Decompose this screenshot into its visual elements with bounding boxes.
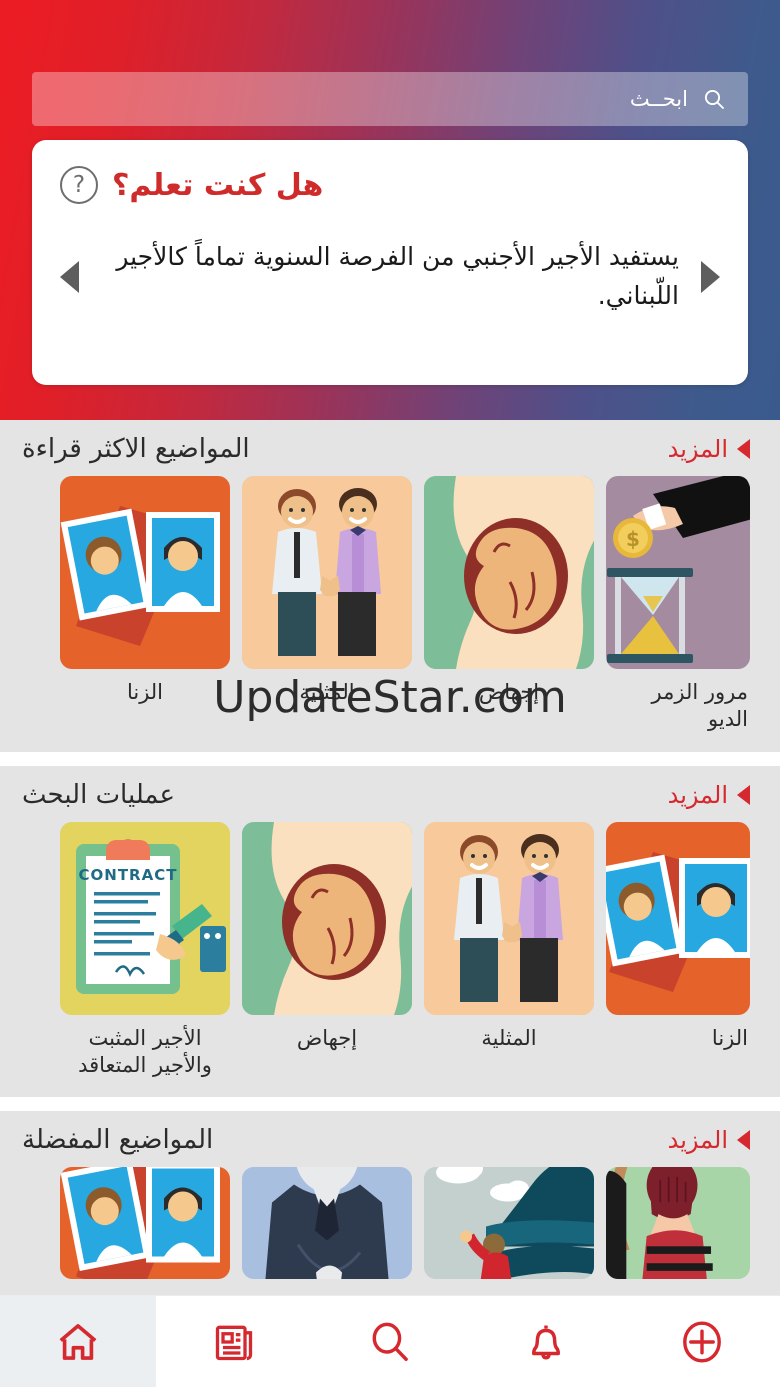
section-most-read: المزيد المواضيع الاكثر قراءة $ (0, 420, 780, 752)
plus-circle-icon (678, 1318, 726, 1366)
more-link-search-operations[interactable]: المزيد (668, 781, 750, 809)
topic-card[interactable] (242, 1167, 412, 1289)
triangle-left-icon (737, 1130, 750, 1150)
topic-thumbnail (242, 476, 412, 669)
topic-label: الأجير المثبت والأجير المتعاقد (60, 1025, 230, 1080)
search-input[interactable]: ابحــث (32, 72, 748, 126)
nav-item-search[interactable] (312, 1296, 468, 1387)
did-you-know-card: ? هل كنت تعلم؟ يستفيد الأجير الأجنبي من … (32, 140, 748, 385)
home-icon (55, 1319, 101, 1365)
more-label: المزيد (668, 435, 728, 463)
topic-thumbnail (60, 476, 230, 669)
topic-label: الزنا (606, 1025, 750, 1052)
card-row: الزنا (0, 822, 780, 1080)
nav-item-news[interactable] (156, 1296, 312, 1387)
section-divider (0, 1097, 780, 1111)
topic-thumbnail (424, 1167, 594, 1279)
topic-card[interactable]: إجهاض (242, 822, 412, 1080)
topic-thumbnail (242, 822, 412, 1015)
did-you-know-header: ? هل كنت تعلم؟ (60, 166, 720, 204)
more-link-favorite-topics[interactable]: المزيد (668, 1126, 750, 1154)
section-title: عمليات البحث (22, 780, 175, 810)
svg-text:$: $ (626, 527, 640, 551)
triangle-right-icon[interactable] (701, 261, 720, 293)
topic-card[interactable]: الزنا (606, 822, 750, 1080)
topic-thumbnail: CONTRACT (60, 822, 230, 1015)
svg-text:CONTRACT: CONTRACT (79, 866, 178, 884)
topic-label: مرور الزمر الديو (606, 679, 750, 734)
topic-card[interactable] (606, 1167, 750, 1289)
topic-label: المثلية (424, 1025, 594, 1052)
topic-card[interactable]: المثلية (424, 822, 594, 1080)
did-you-know-body: يستفيد الأجير الأجنبي من الفرصة السنوية … (60, 238, 720, 316)
topic-thumbnail: $ (606, 476, 750, 669)
bottom-navigation (0, 1295, 780, 1387)
topic-card[interactable]: الزنا (60, 476, 230, 734)
topic-thumbnail (606, 822, 750, 1015)
more-label: المزيد (668, 1126, 728, 1154)
topic-thumbnail (424, 822, 594, 1015)
section-header: المزيد المواضيع المفضلة (0, 1111, 780, 1167)
topic-card[interactable]: CONTRACT (60, 822, 230, 1080)
did-you-know-title: هل كنت تعلم؟ (112, 168, 323, 203)
topic-card[interactable]: إجهاض (424, 476, 594, 734)
section-header: المزيد المواضيع الاكثر قراءة (0, 420, 780, 476)
newspaper-icon (212, 1320, 256, 1364)
topic-thumbnail (606, 1167, 750, 1279)
triangle-left-icon (737, 439, 750, 459)
topic-card[interactable]: المثلية (242, 476, 412, 734)
triangle-left-icon[interactable] (60, 261, 79, 293)
app-root: ابحــث ? هل كنت تعلم؟ يستفيد الأجير الأج… (0, 0, 780, 1387)
topic-label: إجهاض (424, 679, 594, 706)
topic-label: المثلية (242, 679, 412, 706)
search-placeholder: ابحــث (630, 87, 688, 111)
topic-thumbnail (424, 476, 594, 669)
section-divider (0, 752, 780, 766)
section-header: المزيد عمليات البحث (0, 766, 780, 822)
topic-label: إجهاض (242, 1025, 412, 1052)
search-icon (702, 87, 726, 111)
section-title: المواضيع الاكثر قراءة (22, 434, 250, 464)
app-header: ابحــث ? هل كنت تعلم؟ يستفيد الأجير الأج… (0, 0, 780, 420)
topic-label: الزنا (60, 679, 230, 706)
section-search-operations: المزيد عمليات البحث (0, 766, 780, 1098)
topic-card[interactable] (424, 1167, 594, 1289)
did-you-know-text: يستفيد الأجير الأجنبي من الفرصة السنوية … (95, 238, 685, 316)
triangle-left-icon (737, 785, 750, 805)
more-label: المزيد (668, 781, 728, 809)
search-icon (367, 1319, 413, 1365)
topic-card[interactable] (60, 1167, 230, 1289)
nav-item-add[interactable] (624, 1296, 780, 1387)
card-row: $ مرور الزمر الديو (0, 476, 780, 734)
section-title: المواضيع المفضلة (22, 1125, 213, 1155)
question-mark-icon: ? (60, 166, 98, 204)
topic-thumbnail (60, 1167, 230, 1279)
section-favorite-topics: المزيد المواضيع المفضلة (0, 1111, 780, 1289)
topic-thumbnail (242, 1167, 412, 1279)
nav-item-home[interactable] (0, 1296, 156, 1387)
more-link-most-read[interactable]: المزيد (668, 435, 750, 463)
bell-icon (523, 1319, 569, 1365)
topic-card[interactable]: $ مرور الزمر الديو (606, 476, 750, 734)
nav-item-alerts[interactable] (468, 1296, 624, 1387)
card-row (0, 1167, 780, 1289)
